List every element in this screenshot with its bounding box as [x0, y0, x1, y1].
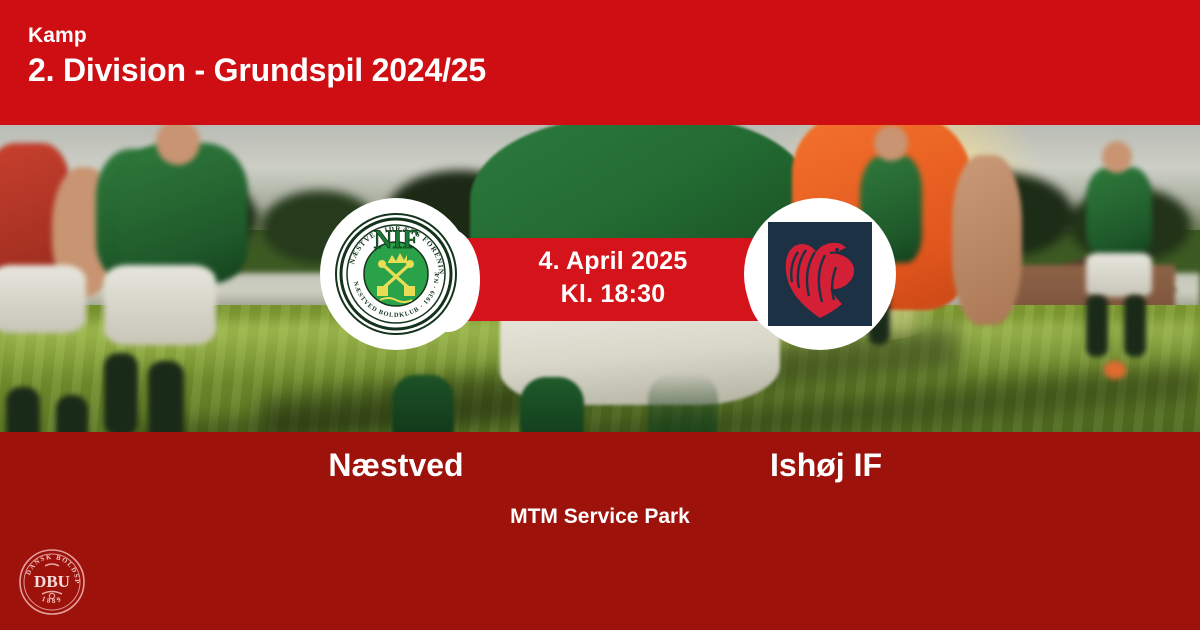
photo-foreground-player-sock	[520, 377, 584, 432]
dbu-logo-icon: DANSK BOLDSPIL UNION 1889 DBU	[18, 548, 86, 616]
eagle-crest-icon	[768, 222, 872, 326]
photo-foreground-player-sock	[392, 375, 454, 432]
dbu-logo: DANSK BOLDSPIL UNION 1889 DBU	[18, 548, 86, 616]
photo-football-small	[1104, 361, 1126, 379]
home-team-name: Næstved	[246, 447, 546, 484]
photo-player-sock	[104, 353, 138, 432]
svg-text:DBU: DBU	[34, 572, 70, 591]
photo-player-sock	[56, 395, 88, 432]
photo-player-shorts	[1086, 253, 1152, 297]
away-team-name: Ishøj IF	[676, 447, 976, 484]
photo-foreground-player-arm	[952, 155, 1022, 325]
photo-player-sock	[6, 387, 40, 432]
photo-player	[1086, 167, 1152, 259]
photo-player-shorts	[104, 265, 216, 345]
match-datetime: 4. April 2025 Kl. 18:30	[448, 244, 778, 310]
footer-bar	[0, 432, 1200, 630]
photo-player-shorts	[0, 265, 86, 333]
photo-foreground-player-sock	[648, 373, 718, 432]
match-time: Kl. 18:30	[448, 278, 778, 310]
header-eyebrow: Kamp	[28, 24, 87, 48]
photo-player-head	[874, 125, 908, 161]
match-date: 4. April 2025	[448, 244, 778, 278]
photo-player-sock	[1124, 295, 1146, 357]
nif-crest-icon: NÆSTVED IDRÆTS FORENING NÆSTVED BOLDKLUB…	[334, 212, 458, 336]
match-promo-card: Kamp 2. Division - Grundspil 2024/25	[0, 0, 1200, 630]
photo-player-sock	[1086, 295, 1108, 357]
header-bar: Kamp 2. Division - Grundspil 2024/25	[0, 0, 1200, 125]
competition-title: 2. Division - Grundspil 2024/25	[28, 52, 486, 89]
photo-player-head	[1102, 141, 1132, 173]
svg-text:NIF: NIF	[374, 225, 419, 254]
photo-player-sock	[148, 361, 184, 432]
svg-text:1889: 1889	[40, 595, 64, 606]
venue-name: MTM Service Park	[0, 505, 1200, 529]
